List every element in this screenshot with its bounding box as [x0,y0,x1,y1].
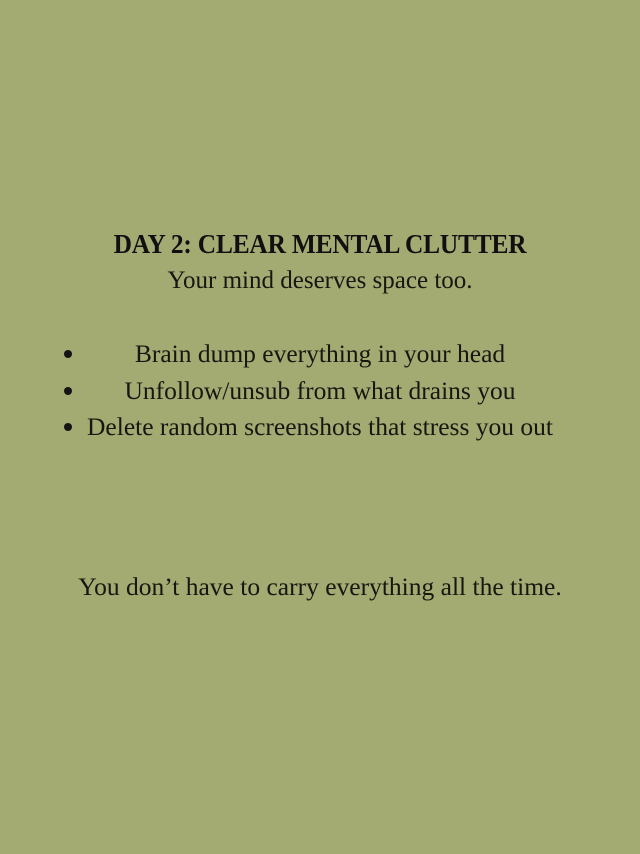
list-item-label: Brain dump everything in your head [135,339,505,368]
subtitle: Your mind deserves space too. [0,264,640,298]
closing-statement: You don’t have to carry everything all t… [0,570,640,604]
poster-canvas: DAY 2: CLEAR MENTAL CLUTTER Your mind de… [0,0,640,854]
list-item: Brain dump everything in your head [0,336,640,373]
bullet-dot-icon [64,350,72,358]
page-title: DAY 2: CLEAR MENTAL CLUTTER [19,228,621,260]
poster-content: DAY 2: CLEAR MENTAL CLUTTER Your mind de… [0,228,640,446]
list-item: Unfollow/unsub from what drains you [0,373,640,410]
bullet-dot-icon [64,387,72,395]
bullet-dot-icon [64,423,72,431]
tips-list: Brain dump everything in your head Unfol… [0,336,640,446]
list-item-label: Delete random screenshots that stress yo… [87,412,553,441]
list-item-label: Unfollow/unsub from what drains you [125,376,516,405]
list-item: Delete random screenshots that stress yo… [0,409,640,446]
